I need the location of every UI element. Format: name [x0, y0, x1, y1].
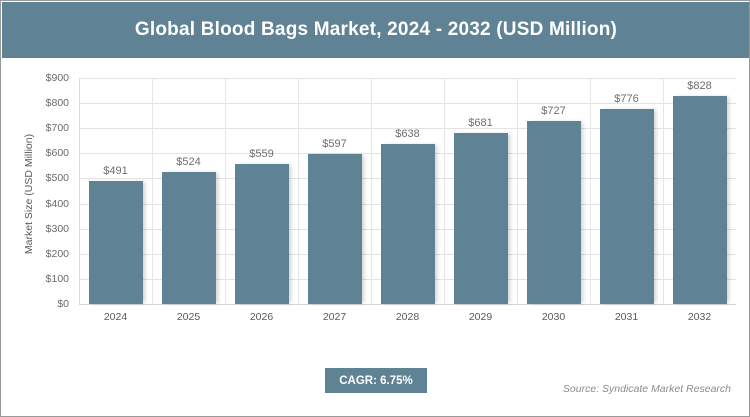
bar-value-label: $828: [663, 80, 736, 92]
x-axis-tick-label: 2024: [79, 311, 152, 323]
y-axis-tick-label: $100: [9, 273, 69, 285]
x-axis-tick-label: 2027: [298, 311, 371, 323]
chart-title: Global Blood Bags Market, 2024 - 2032 (U…: [135, 19, 617, 41]
plot-area: $491$524$559$597$638$681$727$776$828: [79, 78, 736, 304]
x-axis-tick-label: 2025: [152, 311, 225, 323]
bar: [162, 172, 216, 304]
bar-value-label: $638: [371, 128, 444, 140]
category-separator-line: [225, 78, 226, 304]
bar-value-label: $727: [517, 105, 590, 117]
x-axis-tick-label: 2030: [517, 311, 590, 323]
y-axis-tick-label: $300: [9, 223, 69, 235]
y-axis-tick-label: $700: [9, 122, 69, 134]
bar-value-label: $491: [79, 165, 152, 177]
plot-region: Market Size (USD Million) $0$100$200$300…: [1, 58, 750, 417]
x-axis-tick-label: 2032: [663, 311, 736, 323]
chart-figure: Global Blood Bags Market, 2024 - 2032 (U…: [0, 0, 750, 417]
gridline: [79, 78, 736, 79]
x-axis-tick-label: 2028: [371, 311, 444, 323]
cagr-badge: CAGR: 6.75%: [325, 368, 427, 393]
x-axis-tick-label: 2031: [590, 311, 663, 323]
bar-value-label: $559: [225, 148, 298, 160]
bar: [89, 181, 143, 304]
y-axis-tick-label: $600: [9, 147, 69, 159]
bar: [235, 164, 289, 304]
y-axis-tick-label: $400: [9, 198, 69, 210]
y-axis-tick-label: $900: [9, 72, 69, 84]
bar-value-label: $681: [444, 117, 517, 129]
gridline: [79, 304, 736, 305]
bar: [381, 144, 435, 304]
category-separator-line: [371, 78, 372, 304]
x-axis-tick-label: 2026: [225, 311, 298, 323]
category-separator-line: [152, 78, 153, 304]
chart-header-bar: Global Blood Bags Market, 2024 - 2032 (U…: [2, 2, 750, 58]
bar-value-label: $597: [298, 138, 371, 150]
bar: [673, 96, 727, 304]
source-note: Source: Syndicate Market Research: [563, 383, 731, 395]
category-separator-line: [663, 78, 664, 304]
bar: [454, 133, 508, 304]
y-axis-tick-label: $0: [9, 298, 69, 310]
bar: [600, 109, 654, 304]
bar-value-label: $524: [152, 156, 225, 168]
y-axis-tick-label: $200: [9, 248, 69, 260]
x-axis-tick-label: 2029: [444, 311, 517, 323]
bar: [308, 154, 362, 304]
bar-value-label: $776: [590, 93, 663, 105]
y-axis-tick-label: $800: [9, 97, 69, 109]
bar: [527, 121, 581, 304]
y-axis-tick-label: $500: [9, 172, 69, 184]
category-separator-line: [298, 78, 299, 304]
category-separator-line: [590, 78, 591, 304]
category-separator-line: [444, 78, 445, 304]
